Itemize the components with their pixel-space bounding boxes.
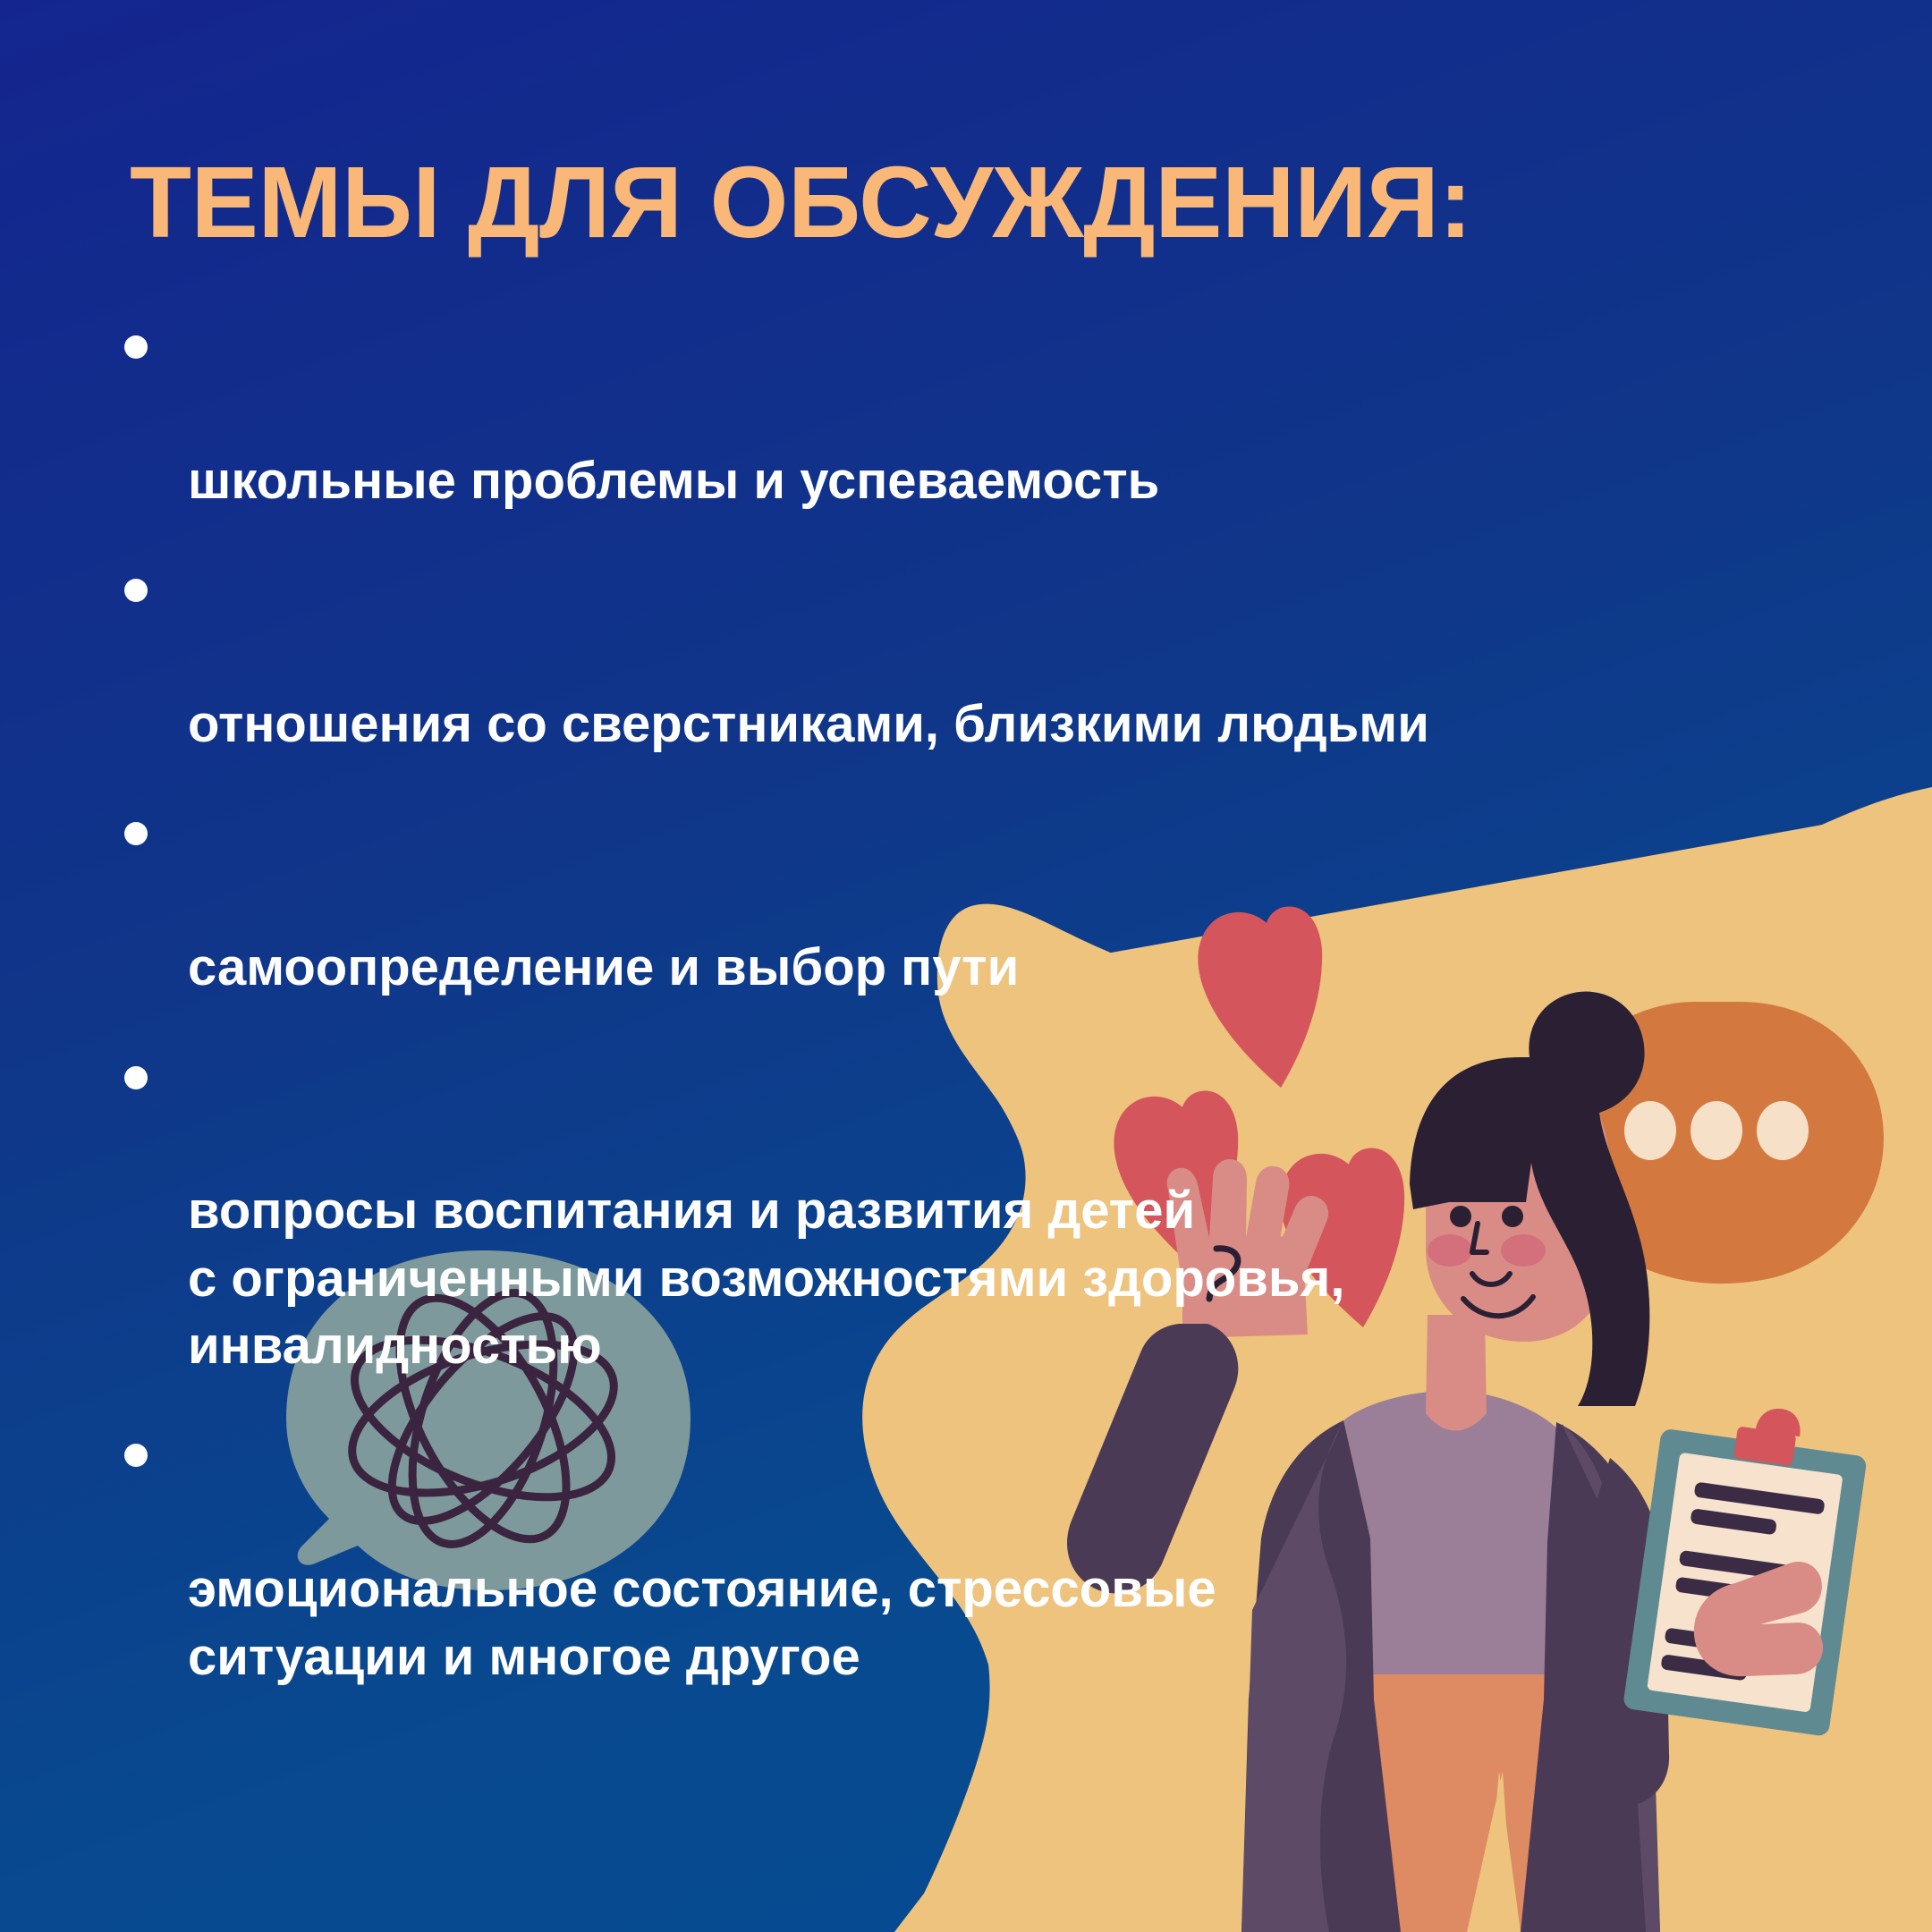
list-item-label: отношения со сверстниками, близкими людь…: [188, 695, 1429, 753]
bullet-dot-icon: [124, 822, 148, 845]
bullet-dot-icon: [124, 1066, 148, 1089]
list-item-label: школьные проблемы и успеваемость: [188, 452, 1159, 510]
list-item-label: самоопределение и выбор пути: [188, 938, 1019, 996]
page-title: ТЕМЫ ДЛЯ ОБСУЖДЕНИЯ:: [130, 152, 1932, 253]
list-item: вопросы воспитания и развития детей с ог…: [112, 1043, 1583, 1380]
topics-list: школьные проблемы и успеваемость отношен…: [112, 312, 1932, 1690]
list-item: школьные проблемы и успеваемость: [112, 312, 1583, 514]
bullet-dot-icon: [124, 579, 148, 602]
list-item-label: эмоциональное состояние, стрессовые ситу…: [188, 1560, 1216, 1685]
list-item: самоопределение и выбор пути: [112, 799, 1583, 1001]
list-item-label: вопросы воспитания и развития детей с ог…: [188, 1182, 1344, 1375]
text-content: ТЕМЫ ДЛЯ ОБСУЖДЕНИЯ: школьные проблемы и…: [0, 0, 1932, 1690]
list-item: эмоциональное состояние, стрессовые ситу…: [112, 1420, 1583, 1690]
pants-leg-gap: [1485, 1771, 1521, 1932]
character-pants: [1340, 1674, 1562, 1932]
bullet-dot-icon: [124, 1444, 148, 1467]
poster-canvas: ТЕМЫ ДЛЯ ОБСУЖДЕНИЯ: школьные проблемы и…: [0, 0, 1932, 1932]
list-item: отношения со сверстниками, близкими людь…: [112, 555, 1583, 758]
bullet-dot-icon: [124, 335, 148, 359]
